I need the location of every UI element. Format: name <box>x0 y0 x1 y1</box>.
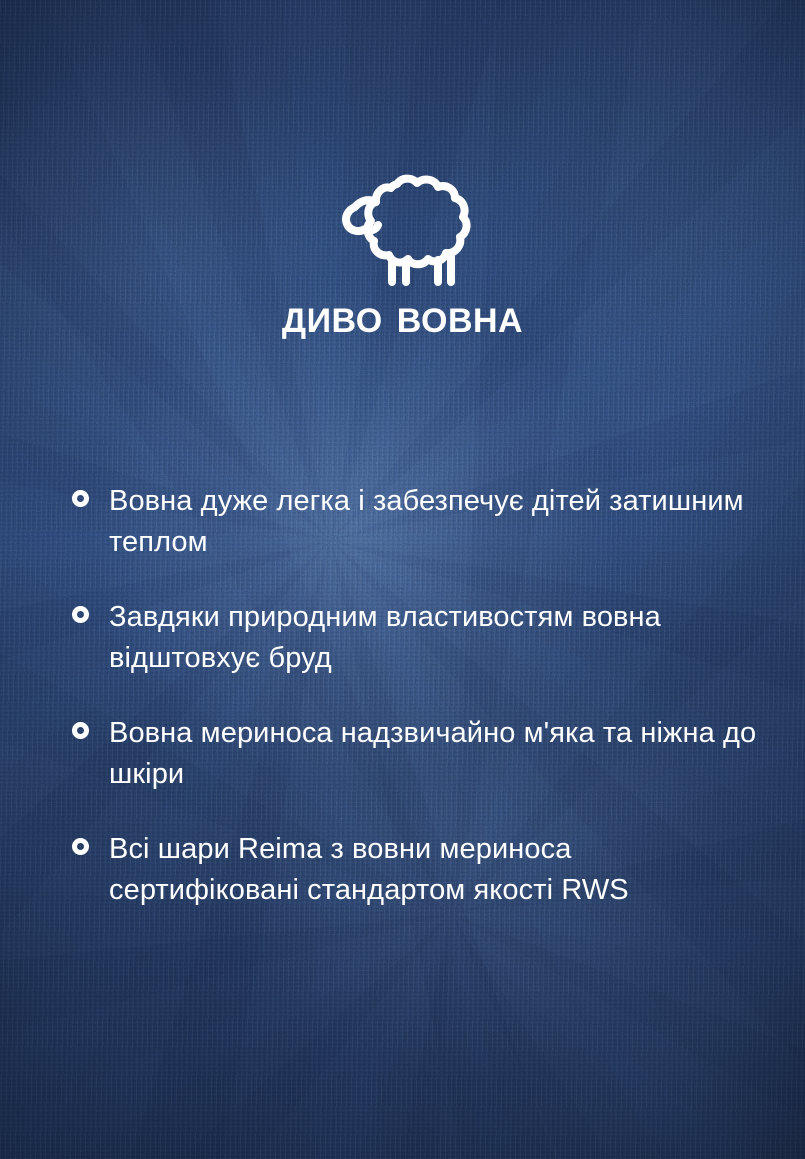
poster-content: Диво вовна Вовна дуже легка і забезпечує… <box>0 0 805 1159</box>
ring-bullet-icon <box>72 490 89 507</box>
sheep-icon <box>334 172 476 286</box>
list-item: Вовна дуже легка і забезпечує дітей зати… <box>72 481 765 563</box>
benefit-text: Вовна дуже легка і забезпечує дітей зати… <box>109 481 765 563</box>
benefits-list: Вовна дуже легка і забезпечує дітей зати… <box>72 481 765 911</box>
ring-bullet-icon <box>72 722 89 739</box>
wool-benefits-poster: Диво вовна Вовна дуже легка і забезпечує… <box>0 0 805 1159</box>
benefit-text: Вовна мериноса надзвичайно м'яка та ніжн… <box>109 713 765 795</box>
list-item: Вовна мериноса надзвичайно м'яка та ніжн… <box>72 713 765 795</box>
benefit-text: Завдяки природним властивостям вовна від… <box>109 597 765 679</box>
list-item: Всі шари Reima з вовни мериноса сертифік… <box>72 829 765 911</box>
list-item: Завдяки природним властивостям вовна від… <box>72 597 765 679</box>
ring-bullet-icon <box>72 606 89 623</box>
page-title: Диво вовна <box>0 288 805 344</box>
benefit-text: Всі шари Reima з вовни мериноса сертифік… <box>109 829 765 911</box>
ring-bullet-icon <box>72 838 89 855</box>
